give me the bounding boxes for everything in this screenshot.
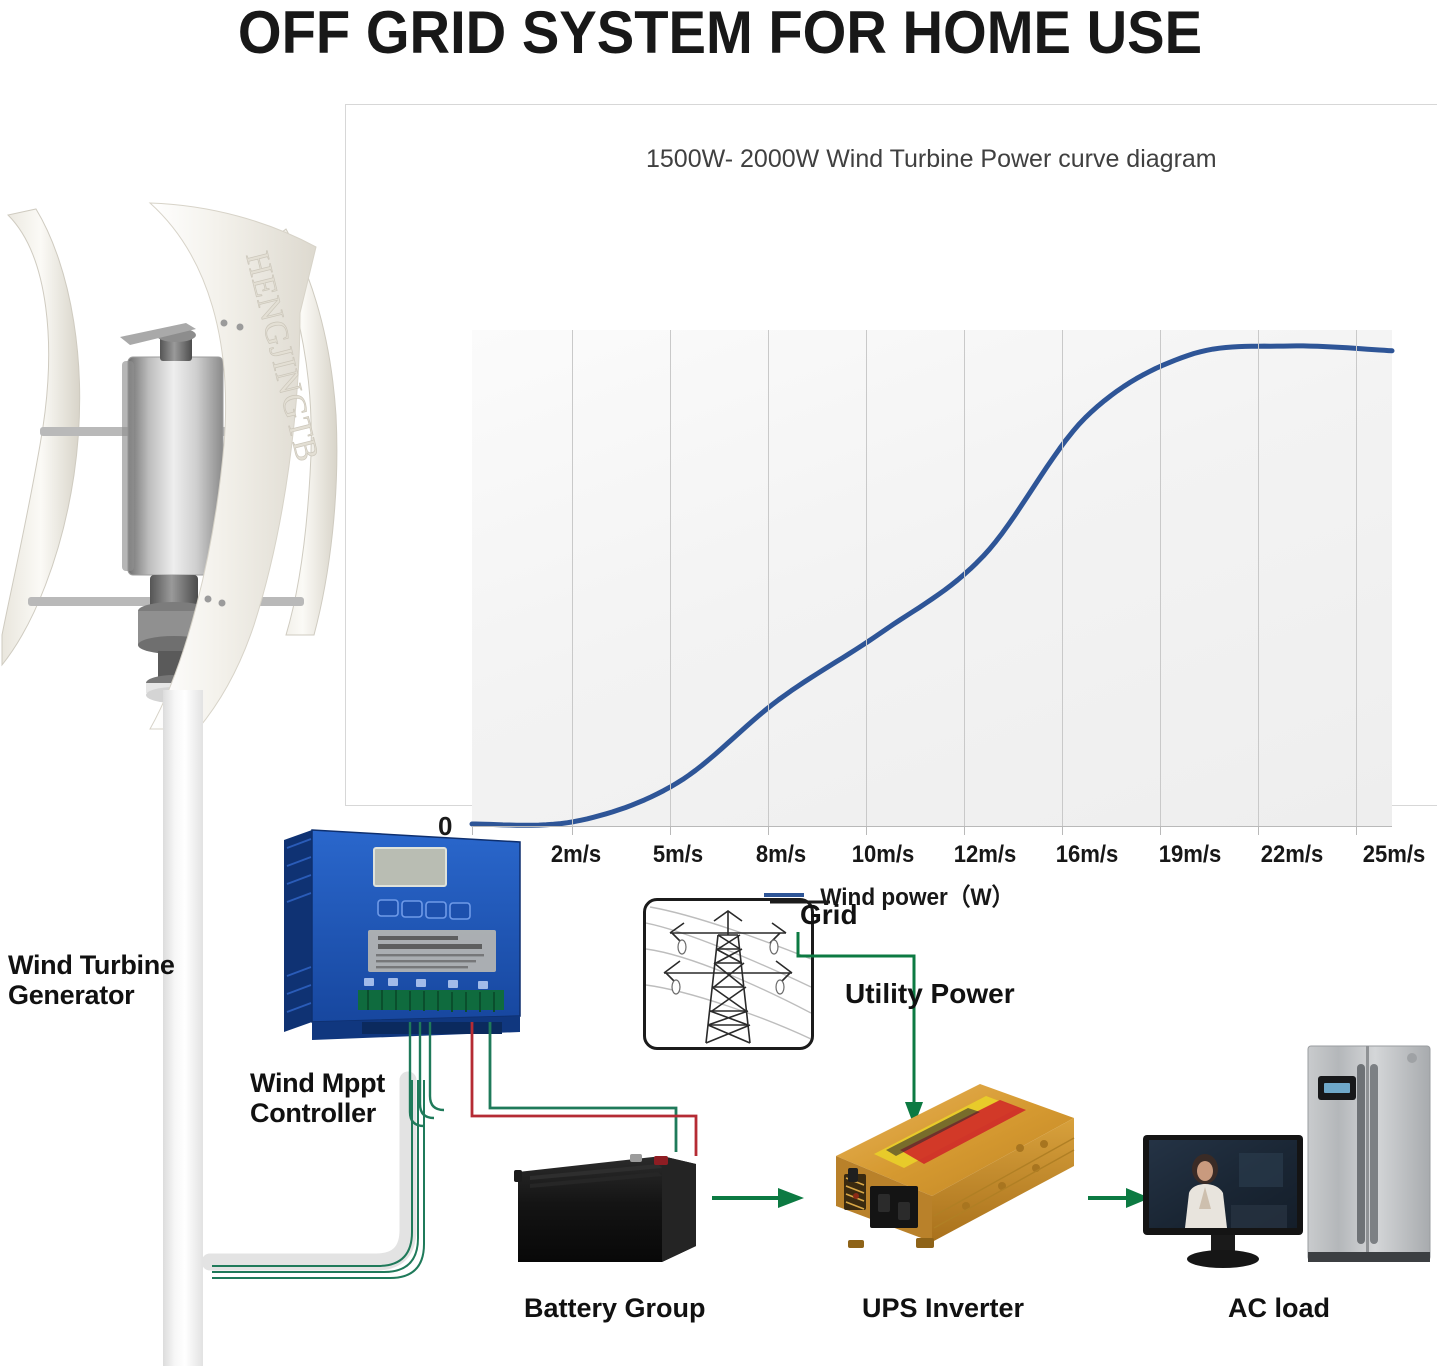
chart-gridline [866, 330, 867, 826]
chart-x-tick [768, 826, 769, 835]
page-title: OFF GRID SYSTEM FOR HOME USE [0, 2, 1440, 64]
chart-x-tick-label: 19m/s [1158, 841, 1221, 869]
chart-gridline [964, 330, 965, 826]
battery-terminal-positive [654, 1156, 668, 1165]
chart-x-tick-label: 8m/s [755, 841, 805, 869]
tv-stand-base [1187, 1250, 1259, 1268]
turbine-blade-left [2, 209, 80, 665]
wire-green-to-mast-3 [430, 1022, 444, 1110]
chart-title: 1500W- 2000W Wind Turbine Power curve di… [646, 145, 1217, 174]
chart-gridline [1258, 330, 1259, 826]
infographic-canvas: OFF GRID SYSTEM FOR HOME USE 1500W- 2000… [0, 0, 1440, 1366]
chart-gridline [670, 330, 671, 826]
chart-x-tick [572, 826, 573, 835]
chart-x-tick-label: 12m/s [954, 841, 1017, 869]
chart-gridline [1062, 330, 1063, 826]
fridge-logo [1407, 1053, 1417, 1063]
fridge-handle-left [1357, 1064, 1365, 1244]
generator-side-shade [122, 361, 134, 571]
controller-button-power [450, 903, 470, 919]
battery-handle [514, 1170, 522, 1182]
inverter-socket-panel [870, 1186, 918, 1228]
chart-x-tick-label: 5m/s [653, 841, 703, 869]
blade-bolt [237, 324, 244, 331]
fridge-display-screen [1324, 1083, 1350, 1093]
chart-x-tick [670, 826, 671, 835]
label-wind-mppt-controller: Wind Mppt Controller [250, 1068, 385, 1128]
chart-series-line [472, 330, 1392, 826]
chart-x-tick [964, 826, 965, 835]
blade-bolt [205, 596, 212, 603]
chart-x-tick-label: 10m/s [852, 841, 915, 869]
wind-mppt-controller-image [282, 826, 530, 1048]
chart-x-tick [1062, 826, 1063, 835]
tv-scene-foreground [1231, 1205, 1287, 1228]
chart-gridline [1160, 330, 1161, 826]
label-battery-group: Battery Group [524, 1293, 706, 1323]
inverter-socket-1 [878, 1194, 890, 1212]
tv-image [1143, 1135, 1303, 1270]
ups-inverter-image [830, 1070, 1080, 1255]
inverter-foot-right [916, 1238, 934, 1248]
chart-x-axis [472, 826, 1392, 827]
chart-x-axis-labels: 02m/s5m/s8m/s10m/s12m/s16m/s19m/s22m/s25… [472, 841, 1392, 875]
battery-terminal-negative [630, 1154, 642, 1162]
label-ac-load: AC load [1228, 1293, 1330, 1323]
chart-x-tick [1258, 826, 1259, 835]
chart-x-tick-label: 22m/s [1260, 841, 1323, 869]
fridge-base-plinth [1308, 1252, 1430, 1262]
label-wind-turbine-generator: Wind Turbine Generator [8, 950, 175, 1010]
chart-x-tick [1160, 826, 1161, 835]
inverter-socket-2 [898, 1202, 910, 1220]
chart-gridline [1356, 330, 1357, 826]
battery-side-face [662, 1156, 696, 1262]
label-utility-power: Utility Power [845, 978, 1015, 1009]
label-ups-inverter: UPS Inverter [862, 1293, 1024, 1323]
controller-heatsink [284, 830, 312, 1032]
controller-button-menu [378, 900, 398, 916]
controller-button-left [402, 901, 422, 917]
chart-x-tick [1356, 826, 1357, 835]
inverter-power-switch [848, 1168, 858, 1182]
battery-to-inverter-arrow [712, 1180, 822, 1220]
blade-bolt [221, 320, 228, 327]
chart-gridline [768, 330, 769, 826]
inverter-indicator-led [853, 1193, 859, 1199]
chart-gridline [572, 330, 573, 826]
power-curve-chart-panel: 1500W- 2000W Wind Turbine Power curve di… [345, 104, 1437, 806]
controller-button-right [426, 902, 446, 918]
chart-plot-area [472, 330, 1392, 826]
inverter-foot-left [848, 1240, 864, 1248]
fridge-handle-right [1370, 1064, 1378, 1244]
wind-turbine-generator-image: HENGJINGTB [0, 195, 350, 755]
refrigerator-image [1308, 1046, 1430, 1268]
arrowhead [778, 1188, 804, 1208]
controller-terminal-block [358, 990, 504, 1010]
turbine-generator-body [128, 357, 223, 575]
tv-scene-background [1239, 1153, 1283, 1187]
controller-lcd-display [374, 848, 446, 886]
chart-x-tick [866, 826, 867, 835]
blade-bolt [219, 600, 226, 607]
chart-x-tick-label: 25m/s [1363, 841, 1426, 869]
battery-group-image [512, 1148, 702, 1270]
label-grid: Grid [800, 899, 858, 930]
tv-person-face [1197, 1161, 1213, 1181]
chart-x-tick-label: 2m/s [551, 841, 601, 869]
fridge-door-gap [1366, 1046, 1369, 1260]
page-title-text: OFF GRID SYSTEM FOR HOME USE [238, 0, 1202, 68]
chart-x-tick-label: 16m/s [1056, 841, 1119, 869]
